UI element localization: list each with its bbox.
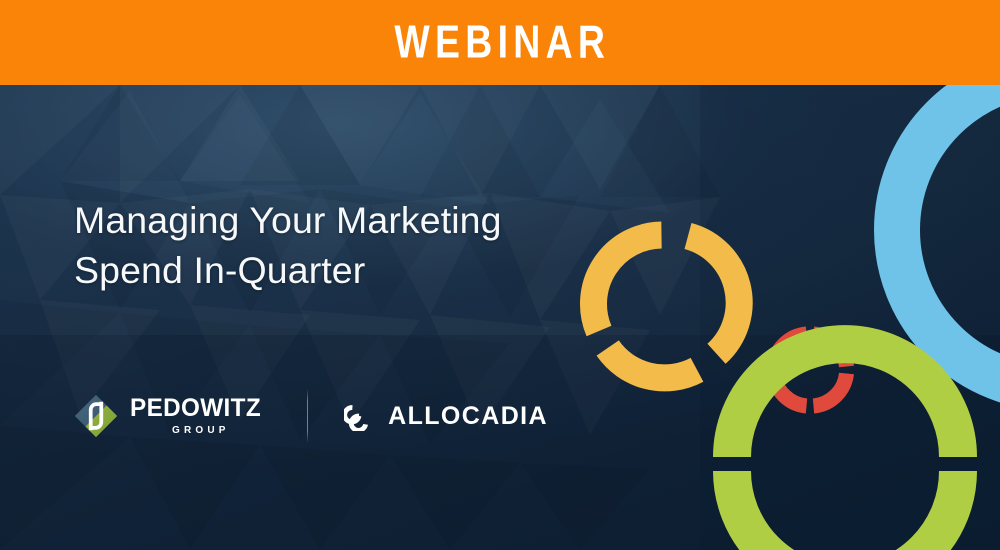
banner-label: WEBINAR: [390, 19, 611, 65]
pedowitz-name: PEDOWITZ: [130, 396, 261, 421]
logo-divider: [307, 390, 308, 442]
slide-title: Managing Your Marketing Spend In-Quarter: [74, 195, 554, 296]
allocadia-wordmark: ALLOCADIA: [388, 404, 548, 429]
hero-section: Managing Your Marketing Spend In-Quarter: [0, 85, 1000, 550]
blue-ring: [897, 85, 1000, 388]
pedowitz-subtitle: GROUP: [172, 426, 230, 436]
decorative-rings-group: [0, 85, 1000, 550]
yellow-ring: [593, 235, 739, 378]
pedowitz-group-logo: PEDOWITZ GROUP: [74, 394, 265, 438]
webinar-banner-slide: WEBINAR: [0, 0, 1000, 550]
pedowitz-diamond-logo-icon: [74, 394, 118, 438]
slide-title-line-2: Spend In-Quarter: [74, 245, 554, 295]
webinar-banner-bar: WEBINAR: [0, 0, 1000, 85]
logo-lockup: PEDOWITZ GROUP ALLOCADIA: [74, 385, 548, 447]
allocadia-logo: ALLOCADIA: [344, 401, 548, 431]
allocadia-link-logo-icon: [344, 401, 374, 431]
slide-title-line-1: Managing Your Marketing: [74, 195, 554, 245]
pedowitz-wordmark: PEDOWITZ GROUP: [130, 396, 265, 436]
